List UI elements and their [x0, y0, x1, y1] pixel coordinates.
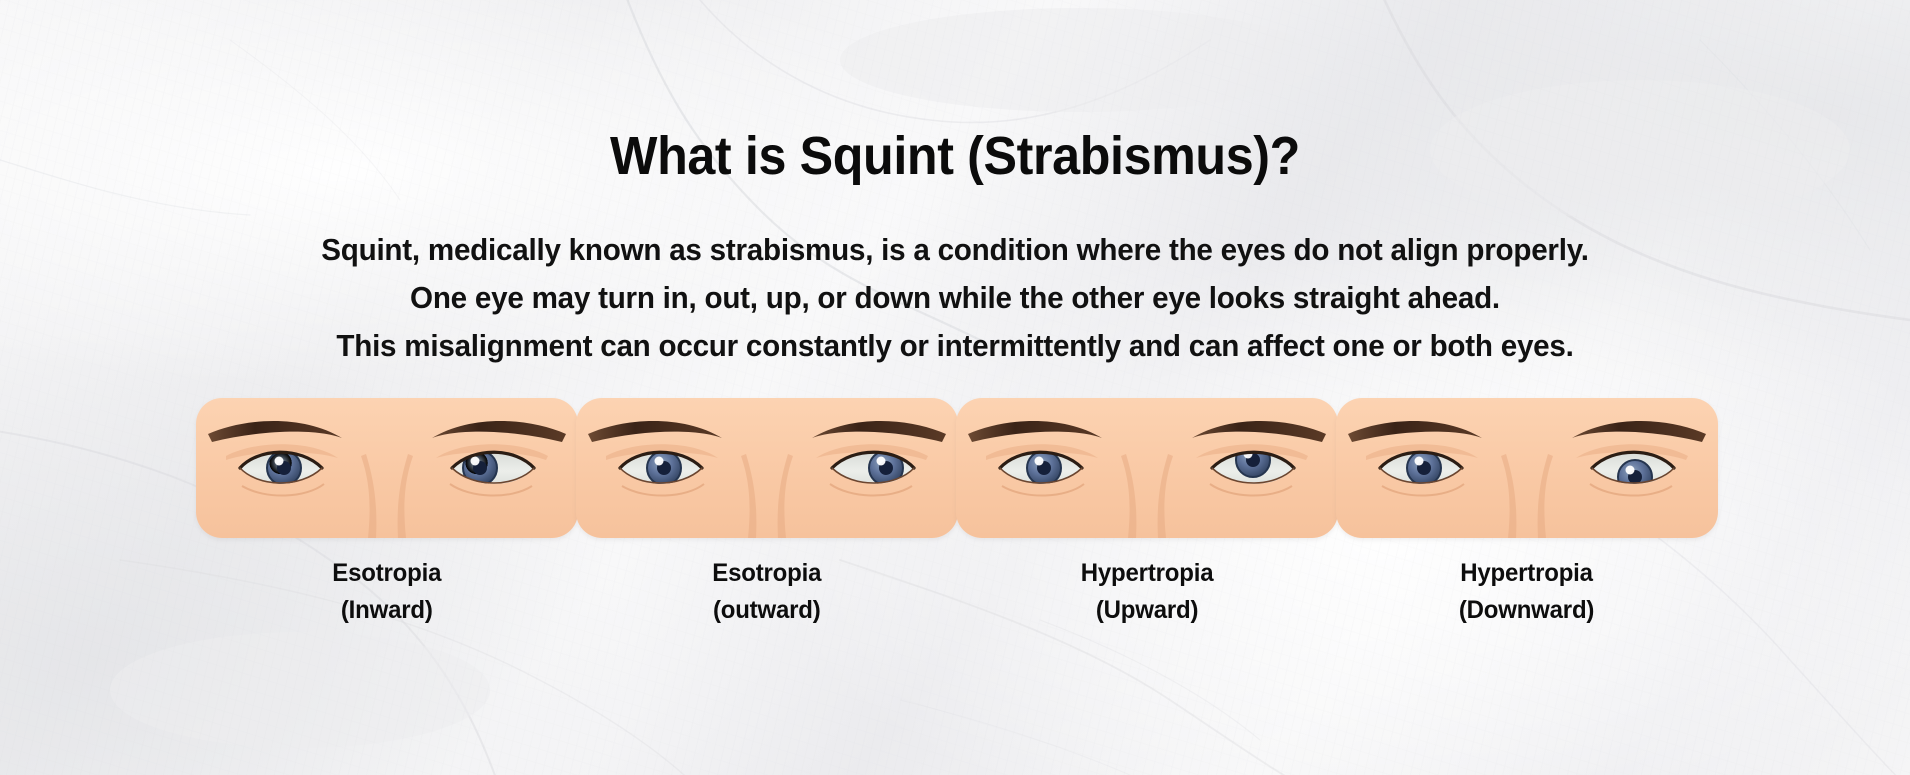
card-caption: Esotropia (Inward) — [330, 556, 444, 627]
caption-direction: (Inward) — [333, 593, 442, 627]
caption-name: Esotropia — [713, 556, 822, 590]
caption-name: Hypertropia — [1081, 556, 1214, 590]
description-line-1: Squint, medically known as strabismus, i… — [43, 226, 1867, 274]
caption-direction: (Upward) — [1081, 593, 1214, 627]
card-esotropia-inward: Esotropia (Inward) — [197, 398, 577, 628]
strabismus-type-card-row: Esotropia (Inward) — [0, 398, 1910, 628]
caption-name: Esotropia — [333, 556, 442, 590]
infographic-canvas: What is Squint (Strabismus)? Squint, med… — [0, 0, 1910, 775]
caption-direction: (Downward) — [1459, 593, 1594, 627]
description-block: Squint, medically known as strabismus, i… — [0, 226, 1910, 370]
card-hypertropia-upward: Hypertropia (Upward) — [957, 398, 1337, 628]
page-title: What is Squint (Strabismus)? — [67, 128, 1843, 185]
card-caption: Esotropia (outward) — [710, 556, 824, 627]
eyes-illustration-hypertropia-downward — [1336, 398, 1718, 538]
eyes-illustration-hypertropia-upward — [956, 398, 1338, 538]
caption-direction: (outward) — [713, 593, 822, 627]
description-line-2: One eye may turn in, out, up, or down wh… — [43, 274, 1867, 322]
caption-name: Hypertropia — [1459, 556, 1594, 590]
eyes-illustration-esotropia-outward — [576, 398, 958, 538]
card-caption: Hypertropia (Downward) — [1456, 556, 1597, 627]
card-caption: Hypertropia (Upward) — [1078, 556, 1216, 627]
card-hypertropia-downward: Hypertropia (Downward) — [1337, 398, 1717, 628]
eyes-illustration-esotropia-inward — [196, 398, 578, 538]
card-esotropia-outward: Esotropia (outward) — [577, 398, 957, 628]
description-line-3: This misalignment can occur constantly o… — [43, 322, 1867, 370]
